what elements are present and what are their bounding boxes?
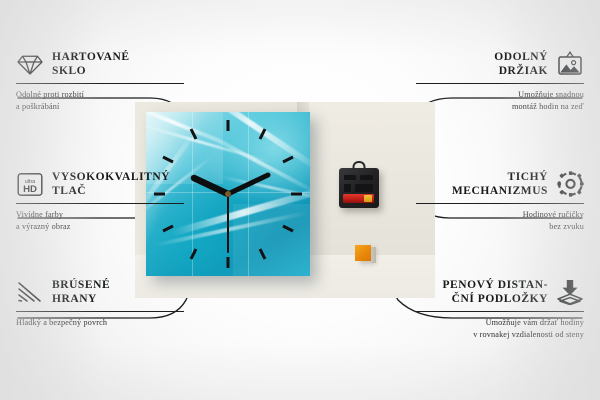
gear-icon <box>556 171 584 197</box>
feature-title-line1: HARTOVANÉ <box>52 50 130 64</box>
divider <box>16 311 184 312</box>
feature-title-line2: MECHANIZMUS <box>452 184 548 198</box>
feature-silent-mechanism: TICHÝ MECHANIZMUS Hodinové ručičky bez z… <box>416 170 584 233</box>
divider <box>416 83 584 84</box>
feature-subtitle-line2: a poškrábání <box>16 101 184 113</box>
foam-spacer-pad <box>355 245 371 261</box>
feature-subtitle-line2: bez zvuku <box>416 221 584 233</box>
clock-center-cap <box>225 191 231 197</box>
infographic-canvas: HARTOVANÉ SKLO Odolné proti rozbití a po… <box>0 0 600 400</box>
svg-text:HD: HD <box>23 184 37 195</box>
feature-subtitle-line2: a výrazný obraz <box>16 221 184 233</box>
press-down-layers-icon <box>556 279 584 305</box>
divider <box>416 203 584 204</box>
feature-brushed-edges: BRÚSENÉ HRANY Hladký a bezpečný povrch <box>16 278 184 329</box>
feature-title-line2: HRANY <box>52 292 110 306</box>
feature-title-line1: TICHÝ <box>452 170 548 184</box>
feature-subtitle-line1: Umožňuje vám držať hodiny <box>416 317 584 329</box>
feature-subtitle-line2: montáž hodin na zeď <box>416 101 584 113</box>
divider <box>16 83 184 84</box>
feature-title-line1: BRÚSENÉ <box>52 278 110 292</box>
feature-tempered-glass: HARTOVANÉ SKLO Odolné proti rozbití a po… <box>16 50 184 113</box>
feature-title-line1: PENOVÝ DISTAN- <box>442 278 548 292</box>
ultra-hd-badge-icon: ultra HD <box>16 171 44 197</box>
feature-subtitle-line1: Umožňuje snadnou <box>416 89 584 101</box>
battery <box>343 194 374 203</box>
feature-title-line2: TLAČ <box>52 184 170 198</box>
picture-frame-hanger-icon <box>556 51 584 77</box>
feature-subtitle-line1: Vivídne farby <box>16 209 184 221</box>
feature-title-line2: ČNÍ PODLOŽKY <box>442 292 548 306</box>
feature-subtitle-line1: Hodinové ručičky <box>416 209 584 221</box>
divider <box>416 311 584 312</box>
feature-durable-hanger: ODOLNÝ DRŽIAK Umožňuje snadnou montáž ho… <box>416 50 584 113</box>
clock-hour-hand <box>194 178 228 194</box>
feature-subtitle-line1: Hladký a bezpečný povrch <box>16 317 184 329</box>
quartz-mechanism-box <box>339 168 379 208</box>
feature-high-quality-print: ultra HD VYSOKOKVALITNÝ TLAČ Vivídne far… <box>16 170 184 233</box>
mechanism-hook-icon <box>353 161 366 170</box>
feature-subtitle-line2: v rovnakej vzdialenosti od steny <box>416 329 584 341</box>
feature-title-line2: SKLO <box>52 64 130 78</box>
diamond-icon <box>16 51 44 77</box>
feature-foam-spacers: PENOVÝ DISTAN- ČNÍ PODLOŽKY Umožňuje vám… <box>416 278 584 341</box>
feature-title-line1: VYSOKOKVALITNÝ <box>52 170 170 184</box>
divider <box>16 203 184 204</box>
brushed-edges-icon <box>16 279 44 305</box>
feature-title-line2: DRŽIAK <box>494 64 548 78</box>
feature-subtitle-line1: Odolné proti rozbití <box>16 89 184 101</box>
clock-minute-hand <box>228 175 268 194</box>
feature-title-line1: ODOLNÝ <box>494 50 548 64</box>
